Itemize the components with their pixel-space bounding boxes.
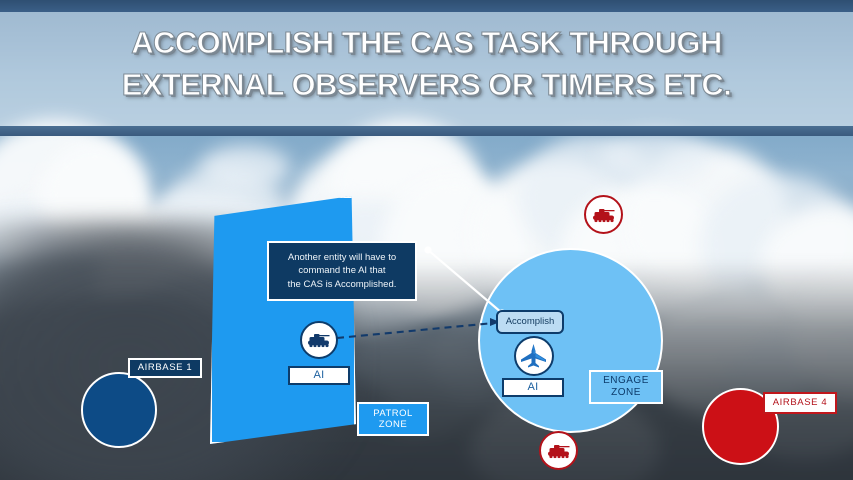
jet-icon: [520, 343, 548, 369]
page-title: ACCOMPLISH THE CAS TASK THROUGH EXTERNAL…: [0, 22, 853, 106]
enemy-unit-badge-2[interactable]: [539, 431, 578, 470]
engage-unit-label: AI: [502, 378, 564, 397]
accomplish-command-chip[interactable]: Accomplish: [496, 310, 564, 334]
patrol-unit-label: AI: [288, 366, 350, 385]
tank-icon: [591, 207, 617, 223]
enemy-unit-badge-1[interactable]: [584, 195, 623, 234]
callout-text: Another entity will have to command the …: [288, 251, 397, 291]
slide-canvas: ACCOMPLISH THE CAS TASK THROUGH EXTERNAL…: [0, 0, 853, 480]
airbase-4-label: AIRBASE 4: [763, 392, 837, 414]
callout-box: Another entity will have to command the …: [267, 241, 417, 301]
header-bottom-rule: [0, 126, 853, 136]
airbase-1-label: AIRBASE 1: [128, 358, 202, 378]
header-top-rule: [0, 0, 853, 12]
engage-unit-badge[interactable]: [514, 336, 554, 376]
patrol-zone-label: PATROL ZONE: [357, 402, 429, 436]
tank-icon: [546, 443, 572, 459]
patrol-unit-badge[interactable]: [300, 321, 338, 359]
patrol-zone-area[interactable]: [210, 196, 356, 444]
engage-zone-label: ENGAGE ZONE: [589, 370, 663, 404]
engage-zone-area[interactable]: [478, 248, 663, 433]
airbase-1-disc[interactable]: [81, 372, 157, 448]
tank-icon: [306, 332, 332, 348]
